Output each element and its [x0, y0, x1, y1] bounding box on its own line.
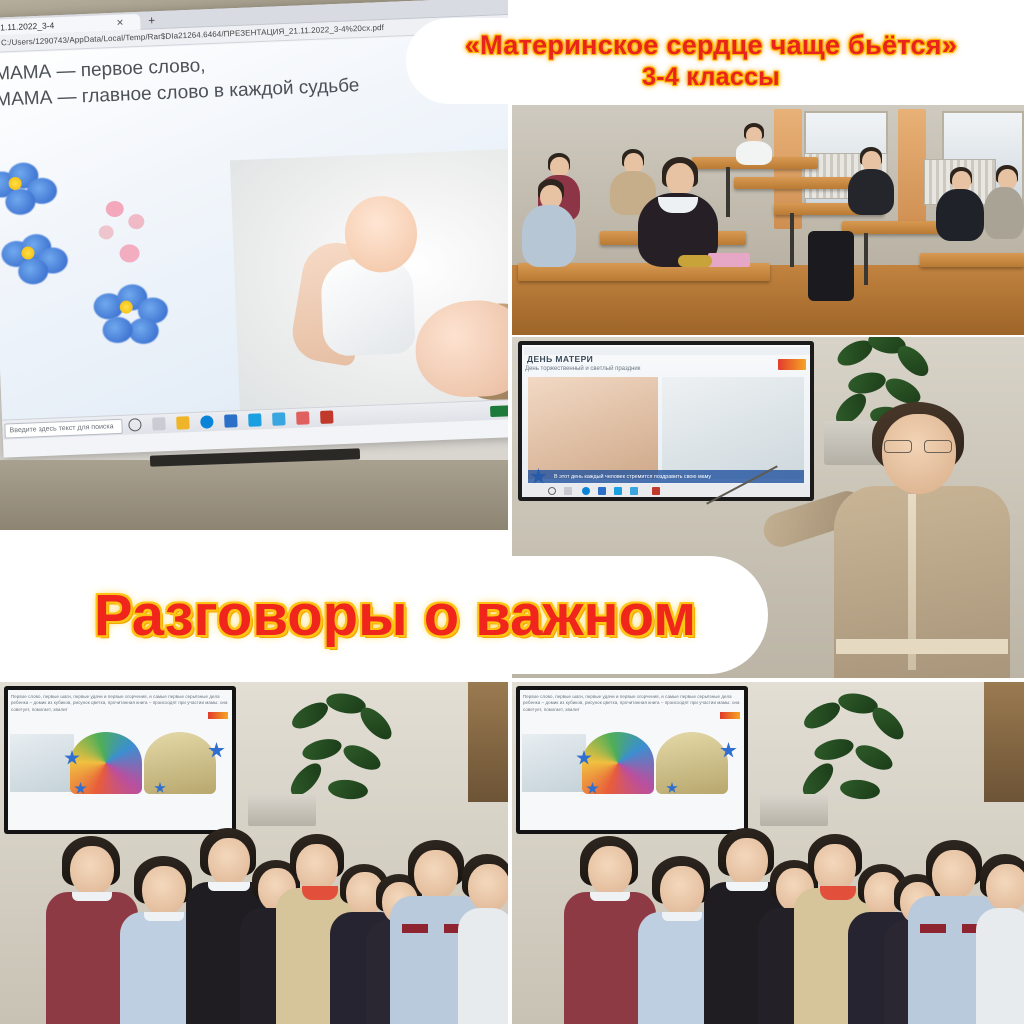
task-view-icon[interactable] — [564, 487, 572, 495]
title-line-1: «Материнское сердце чаще бьётся» — [465, 30, 957, 61]
edge-icon[interactable] — [582, 487, 590, 495]
desk-leg — [790, 213, 794, 267]
slide-title: ДЕНЬ МАТЕРИ — [527, 354, 593, 364]
bottom-banner-text: Разговоры о важном — [94, 582, 696, 649]
pupil — [936, 189, 984, 241]
mail-icon[interactable] — [248, 413, 262, 427]
tv-frame: Первое слово, первые шаги, первые удачи … — [516, 686, 748, 834]
head — [932, 850, 976, 900]
head — [986, 864, 1024, 912]
head — [468, 864, 508, 912]
door — [468, 682, 508, 802]
collar — [144, 912, 184, 921]
photo-group-left: Первое слово, первые шаги, первые удачи … — [0, 682, 508, 1024]
collar — [72, 892, 112, 901]
plus-icon[interactable]: + — [148, 13, 156, 27]
notebook — [708, 253, 750, 267]
taskbar-icons — [128, 410, 333, 431]
lightshot-icon[interactable] — [630, 487, 638, 495]
tv-taskbar — [524, 484, 810, 497]
student — [458, 854, 508, 1024]
razgovory-o-vazhnom-logo — [720, 712, 740, 719]
name-badge — [920, 924, 946, 933]
tv-frame: ДЕНЬ МАТЕРИ День торжественный и светлый… — [518, 341, 814, 501]
shirt — [976, 908, 1024, 1024]
teacher-figure — [820, 398, 1020, 678]
pupil — [848, 169, 894, 215]
head — [660, 866, 704, 916]
equipment-box — [248, 794, 316, 826]
desk-leg — [726, 167, 730, 217]
task-view-icon[interactable] — [152, 417, 166, 431]
tv-screen: Первое слово, первые шаги, первые удачи … — [520, 690, 744, 830]
bottom-banner: Разговоры о важном — [22, 556, 768, 674]
slide-photo-3 — [144, 732, 216, 794]
photo-group-right: Первое слово, первые шаги, первые удачи … — [512, 682, 1024, 1024]
slide-photo-right — [662, 377, 804, 479]
slide-subtitle: День торжественный и светлый праздник — [525, 366, 640, 372]
slide-text: Первое слово, первые шаги, первые удачи … — [11, 694, 229, 713]
shirt — [458, 908, 508, 1024]
door — [984, 682, 1024, 802]
flower-bud-icon — [128, 214, 145, 230]
cortana-icon[interactable] — [548, 487, 556, 495]
folder-icon[interactable] — [652, 487, 660, 495]
curtain — [898, 109, 926, 229]
cardigan-hem — [836, 639, 1008, 654]
mail-icon[interactable] — [614, 487, 622, 495]
collar — [662, 912, 702, 921]
slide-photo-left — [528, 377, 658, 479]
folder-icon[interactable] — [320, 410, 334, 424]
room-wall-lower — [0, 460, 508, 530]
edge-icon[interactable] — [200, 415, 214, 429]
backpack — [808, 231, 854, 301]
head — [414, 850, 458, 900]
equipment-box — [760, 794, 828, 826]
head — [588, 846, 632, 896]
razgovory-o-vazhnom-logo — [778, 359, 806, 370]
store-icon[interactable] — [224, 414, 238, 428]
tv-screen: Первое слово, первые шаги, первые удачи … — [8, 690, 232, 830]
slide-photo-1 — [10, 734, 74, 792]
razgovory-o-vazhnom-logo — [208, 712, 228, 719]
desk — [734, 177, 854, 189]
flower-bud-icon — [105, 201, 124, 218]
head — [142, 866, 186, 916]
head — [882, 414, 956, 494]
pupil — [522, 205, 576, 267]
title-line-2: 3-4 классы — [642, 63, 780, 92]
slide-photo-1 — [522, 734, 586, 792]
browser-tab-title: 21.11.2022_3-4 — [0, 20, 54, 32]
pencil-case — [678, 255, 712, 267]
person — [736, 141, 772, 165]
photo-classroom — [512, 105, 1024, 335]
slide-text: Первое слово, первые шаги, первые удачи … — [523, 694, 741, 713]
baby-body — [320, 257, 416, 357]
flower-bud-icon — [98, 225, 114, 240]
file-explorer-icon[interactable] — [176, 416, 190, 430]
pupil — [984, 187, 1024, 239]
taskbar-clock[interactable] — [490, 405, 508, 417]
student — [976, 854, 1024, 1024]
title-banner: «Материнское сердце чаще бьётся» 3-4 кла… — [406, 18, 1016, 104]
slide-photo-3 — [656, 732, 728, 794]
store-icon[interactable] — [598, 487, 606, 495]
slide-line-1: МАМА — первое слово, — [0, 55, 206, 85]
search-input[interactable]: Введите здесь текст для поиска — [4, 418, 123, 438]
glasses-icon — [884, 440, 954, 453]
photo-collage: 21.11.2022_3-4 ✕ + C:/Users/1290743/AppD… — [0, 0, 1024, 1024]
desk — [920, 253, 1024, 267]
cortana-icon[interactable] — [128, 418, 142, 432]
close-icon[interactable]: ✕ — [116, 17, 124, 28]
mother-baby-photo — [230, 148, 508, 410]
mother-head — [414, 299, 508, 399]
tv-screen: ДЕНЬ МАТЕРИ День торжественный и светлый… — [522, 345, 810, 497]
flower-bud-icon — [119, 244, 140, 263]
head — [70, 846, 114, 896]
app-icon[interactable] — [296, 411, 310, 425]
head — [666, 163, 694, 195]
lightshot-icon[interactable] — [272, 412, 286, 426]
collar — [590, 892, 630, 901]
head — [550, 157, 569, 177]
desk-leg — [864, 233, 868, 285]
name-badge — [402, 924, 428, 933]
tv-frame: Первое слово, первые шаги, первые удачи … — [4, 686, 236, 834]
